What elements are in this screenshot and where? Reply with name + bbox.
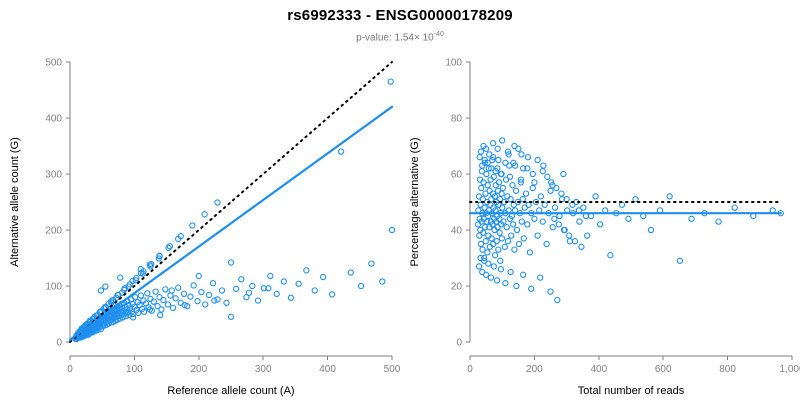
data-point	[530, 171, 535, 176]
data-point	[545, 174, 550, 179]
data-point	[195, 299, 200, 304]
data-point	[485, 250, 490, 255]
data-point	[488, 275, 493, 280]
y-tick-label: 0	[456, 338, 462, 349]
data-point	[497, 230, 502, 235]
data-point	[556, 222, 561, 227]
data-point	[493, 253, 498, 258]
data-point	[138, 293, 143, 298]
data-point	[234, 286, 239, 291]
data-point	[228, 314, 233, 319]
data-point	[608, 253, 613, 258]
data-point	[168, 293, 173, 298]
data-point	[203, 302, 208, 307]
data-point	[484, 171, 489, 176]
data-point	[538, 275, 543, 280]
x-tick-label: 500	[384, 364, 400, 375]
data-point	[544, 241, 549, 246]
y-tick-label: 200	[45, 226, 62, 237]
data-point	[163, 287, 168, 292]
data-point	[477, 177, 482, 182]
data-point	[165, 302, 170, 307]
data-point	[597, 222, 602, 227]
data-point	[538, 194, 543, 199]
data-point	[202, 212, 207, 217]
data-point	[540, 219, 545, 224]
left-plot-svg: 01002003004005000100200300400500Referenc…	[0, 46, 400, 400]
data-point	[103, 284, 108, 289]
data-point	[495, 146, 500, 151]
data-point	[161, 297, 166, 302]
x-tick-label: 400	[590, 364, 607, 375]
data-point	[498, 267, 503, 272]
data-point	[475, 222, 480, 227]
data-point	[176, 285, 181, 290]
data-point	[199, 290, 204, 295]
data-point	[215, 297, 220, 302]
data-point	[555, 297, 560, 302]
right-plot-svg: 02040608010002004006008001,000Total numb…	[400, 46, 800, 400]
data-point	[496, 157, 501, 162]
data-point	[503, 281, 508, 286]
data-point	[732, 205, 737, 210]
data-point	[494, 239, 499, 244]
x-tick-label: 200	[190, 364, 207, 375]
data-point	[158, 313, 163, 318]
data-point	[521, 272, 526, 277]
data-point	[504, 225, 509, 230]
data-point	[320, 274, 325, 279]
data-point	[210, 281, 215, 286]
data-point	[530, 185, 535, 190]
data-point	[494, 278, 499, 283]
data-point	[98, 288, 103, 293]
x-tick-label: 0	[67, 364, 73, 375]
scatter-panel-reference-vs-alternative: 01002003004005000100200300400500Referenc…	[0, 46, 400, 400]
data-point	[246, 290, 251, 295]
data-point	[550, 225, 555, 230]
data-point	[519, 152, 524, 157]
x-tick-label: 0	[467, 364, 473, 375]
page-title: rs6992333 - ENSG00000178209	[0, 0, 800, 25]
data-point	[559, 191, 564, 196]
x-axis-title: Reference allele count (A)	[167, 385, 294, 397]
data-point	[500, 205, 505, 210]
data-point	[548, 289, 553, 294]
data-point	[478, 255, 483, 260]
x-tick-label: 300	[255, 364, 272, 375]
y-tick-label: 60	[451, 170, 463, 181]
x-tick-label: 200	[526, 364, 543, 375]
data-point	[667, 194, 672, 199]
data-point	[118, 275, 123, 280]
data-point	[215, 200, 220, 205]
data-point	[281, 279, 286, 284]
data-point	[239, 277, 244, 282]
data-point	[513, 188, 518, 193]
data-point	[529, 286, 534, 291]
data-point	[567, 239, 572, 244]
data-point	[228, 260, 233, 265]
data-point	[330, 292, 335, 297]
data-point	[212, 298, 217, 303]
data-point	[514, 283, 519, 288]
data-point	[477, 155, 482, 160]
y-tick-label: 500	[45, 58, 62, 69]
data-point	[585, 233, 590, 238]
y-tick-label: 80	[451, 114, 463, 125]
data-point	[535, 157, 540, 162]
data-point	[348, 270, 353, 275]
data-point	[388, 79, 393, 84]
data-point	[500, 185, 505, 190]
data-point	[577, 219, 582, 224]
data-point	[476, 264, 481, 269]
data-point-group	[475, 138, 783, 303]
pvalue-text: p-value: 1.54× 10	[356, 32, 434, 43]
data-point	[296, 281, 301, 286]
data-point	[512, 143, 517, 148]
data-point	[188, 294, 193, 299]
data-point	[170, 305, 175, 310]
data-point	[207, 292, 212, 297]
data-point	[532, 216, 537, 221]
data-point	[509, 233, 514, 238]
data-point	[500, 138, 505, 143]
data-point	[219, 288, 224, 293]
data-point	[181, 291, 186, 296]
data-point	[196, 273, 201, 278]
data-point	[516, 241, 521, 246]
data-point	[478, 241, 483, 246]
data-point	[145, 291, 150, 296]
data-point	[159, 307, 164, 312]
data-point	[512, 247, 517, 252]
data-point	[532, 180, 537, 185]
data-point	[480, 247, 485, 252]
pvalue-exponent: -40	[434, 31, 444, 38]
regression-line	[70, 107, 392, 340]
x-tick-label: 100	[126, 364, 143, 375]
data-point	[502, 244, 507, 249]
data-point	[572, 239, 577, 244]
data-point	[169, 288, 174, 293]
pvalue-subtitle: p-value: 1.54× 10-40	[0, 25, 800, 44]
data-point	[510, 183, 515, 188]
data-point	[548, 188, 553, 193]
y-tick-label: 100	[45, 282, 62, 293]
data-point	[191, 283, 196, 288]
data-point	[579, 244, 584, 249]
data-point	[380, 279, 385, 284]
data-point	[288, 295, 293, 300]
y-tick-label: 300	[45, 170, 62, 181]
data-point	[498, 258, 503, 263]
figure-root: rs6992333 - ENSG00000178209 p-value: 1.5…	[0, 0, 800, 400]
data-point	[525, 155, 530, 160]
y-tick-label: 0	[56, 338, 62, 349]
data-point	[255, 298, 260, 303]
data-point	[389, 227, 394, 232]
data-point	[274, 291, 279, 296]
data-point	[677, 258, 682, 263]
data-point	[173, 296, 178, 301]
y-tick-label: 100	[445, 58, 462, 69]
y-tick-label: 40	[451, 226, 463, 237]
data-point	[312, 288, 317, 293]
data-point	[479, 185, 484, 190]
x-tick-label: 600	[655, 364, 672, 375]
data-point	[250, 283, 255, 288]
data-point	[541, 163, 546, 168]
data-point	[339, 149, 344, 154]
data-point	[491, 264, 496, 269]
data-point	[499, 236, 504, 241]
data-point	[503, 160, 508, 165]
data-point	[521, 236, 526, 241]
data-point	[358, 283, 363, 288]
data-point	[689, 216, 694, 221]
data-point	[486, 261, 491, 266]
data-point	[507, 174, 512, 179]
data-point	[552, 205, 557, 210]
x-tick-label: 1,000	[779, 364, 800, 375]
data-point	[626, 216, 631, 221]
figure-header: rs6992333 - ENSG00000178209 p-value: 1.5…	[0, 0, 800, 46]
y-tick-label: 400	[45, 114, 62, 125]
y-tick-label: 20	[451, 282, 463, 293]
data-point	[593, 194, 598, 199]
data-point	[484, 272, 489, 277]
data-point	[224, 300, 229, 305]
data-point	[495, 188, 500, 193]
data-point	[190, 223, 195, 228]
data-point	[499, 191, 504, 196]
data-point	[535, 233, 540, 238]
y-axis-title: Alternative allele count (G)	[9, 137, 21, 267]
data-point	[478, 149, 483, 154]
data-point	[491, 141, 496, 146]
x-tick-label: 400	[319, 364, 336, 375]
data-point	[369, 261, 374, 266]
data-point	[496, 247, 501, 252]
data-point	[511, 222, 516, 227]
data-point	[505, 239, 510, 244]
data-point	[561, 171, 566, 176]
data-point	[567, 233, 572, 238]
data-point	[483, 239, 488, 244]
data-point	[554, 185, 559, 190]
data-point	[525, 222, 530, 227]
y-axis-title: Percentage alternative (G)	[409, 137, 421, 266]
data-point	[485, 183, 490, 188]
data-point	[523, 191, 528, 196]
x-tick-label: 800	[719, 364, 736, 375]
data-point	[153, 289, 158, 294]
scatter-panel-reads-vs-percentage: 02040608010002004006008001,000Total numb…	[400, 46, 800, 400]
data-point	[648, 227, 653, 232]
data-point	[527, 250, 532, 255]
data-point	[552, 216, 557, 221]
x-axis-title: Total number of reads	[578, 385, 685, 397]
data-point	[268, 273, 273, 278]
data-point	[716, 219, 721, 224]
data-point	[514, 227, 519, 232]
data-point	[540, 169, 545, 174]
data-point	[508, 269, 513, 274]
data-point	[304, 268, 309, 273]
data-point	[519, 219, 524, 224]
